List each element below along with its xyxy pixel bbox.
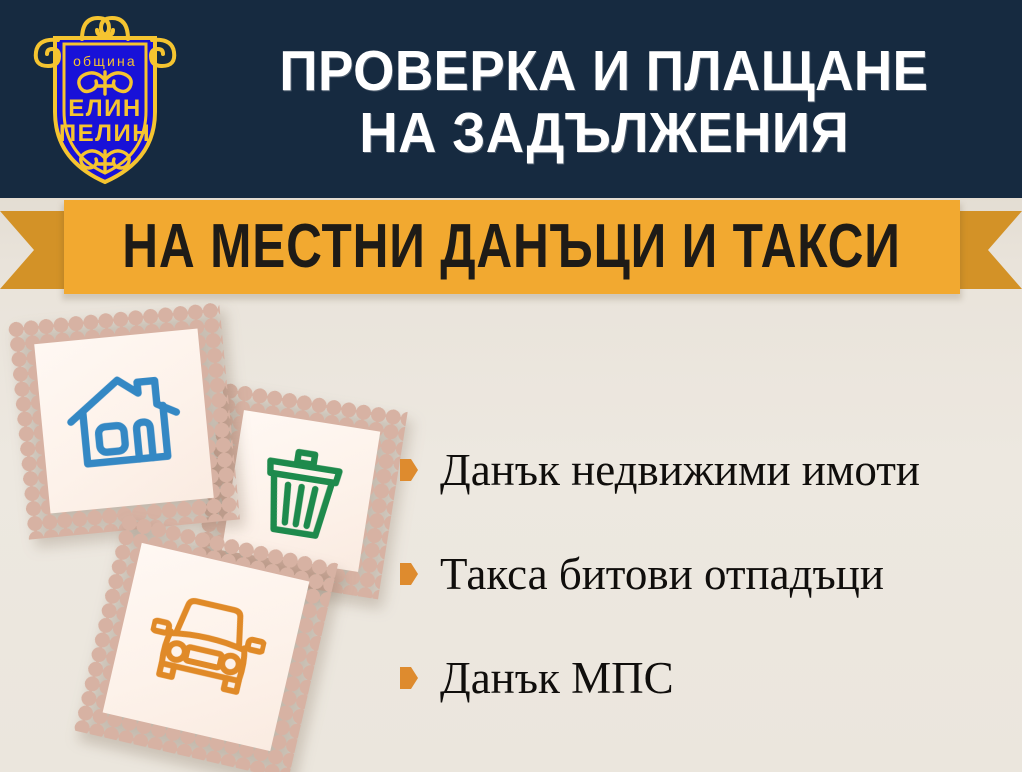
crest-name-line-1: ЕЛИН bbox=[68, 95, 141, 122]
list-item-label: Такса битови отпадъци bbox=[440, 550, 884, 598]
ribbon-panel: НА МЕСТНИ ДАНЪЦИ И ТАКСИ bbox=[64, 200, 960, 294]
page-title-line-2: НА ЗАДЪЛЖЕНИЯ bbox=[359, 102, 849, 164]
arrow-right-marker-icon bbox=[400, 459, 418, 481]
ribbon-label: НА МЕСТНИ ДАНЪЦИ И ТАКСИ bbox=[123, 215, 901, 279]
list-item[interactable]: Данък недвижими имоти bbox=[400, 418, 1014, 522]
crest-name-line-2: ПЕЛИН bbox=[59, 120, 151, 147]
house-icon bbox=[60, 365, 187, 478]
crest-municipality-label: община bbox=[73, 53, 137, 69]
tax-type-list: Данък недвижими имоти Такса битови отпад… bbox=[400, 418, 1014, 730]
poster-canvas: община ЕЛИН ПЕЛИН bbox=[0, 0, 1022, 772]
trash-bin-icon bbox=[248, 434, 355, 548]
stamp-card-house bbox=[8, 302, 240, 539]
list-item-label: Данък МПС bbox=[440, 654, 674, 702]
list-item[interactable]: Такса битови отпадъци bbox=[400, 522, 1014, 626]
list-item[interactable]: Данък МПС bbox=[400, 626, 1014, 730]
stamp-paper bbox=[34, 329, 214, 514]
arrow-right-marker-icon bbox=[400, 667, 418, 689]
arrow-right-marker-icon bbox=[400, 563, 418, 585]
coat-of-arms-shield-icon: община ЕЛИН ПЕЛИН bbox=[26, 8, 184, 190]
car-front-icon bbox=[139, 587, 274, 707]
page-title-line-1: ПРОВЕРКА И ПЛАЩАНЕ bbox=[279, 40, 928, 102]
header-bar: община ЕЛИН ПЕЛИН bbox=[0, 0, 1022, 198]
list-item-label: Данък недвижими имоти bbox=[440, 446, 920, 494]
subtitle-ribbon: НА МЕСТНИ ДАНЪЦИ И ТАКСИ bbox=[0, 199, 1022, 304]
page-title: ПРОВЕРКА И ПЛАЩАНЕ НА ЗАДЪЛЖЕНИЯ bbox=[186, 18, 1022, 186]
